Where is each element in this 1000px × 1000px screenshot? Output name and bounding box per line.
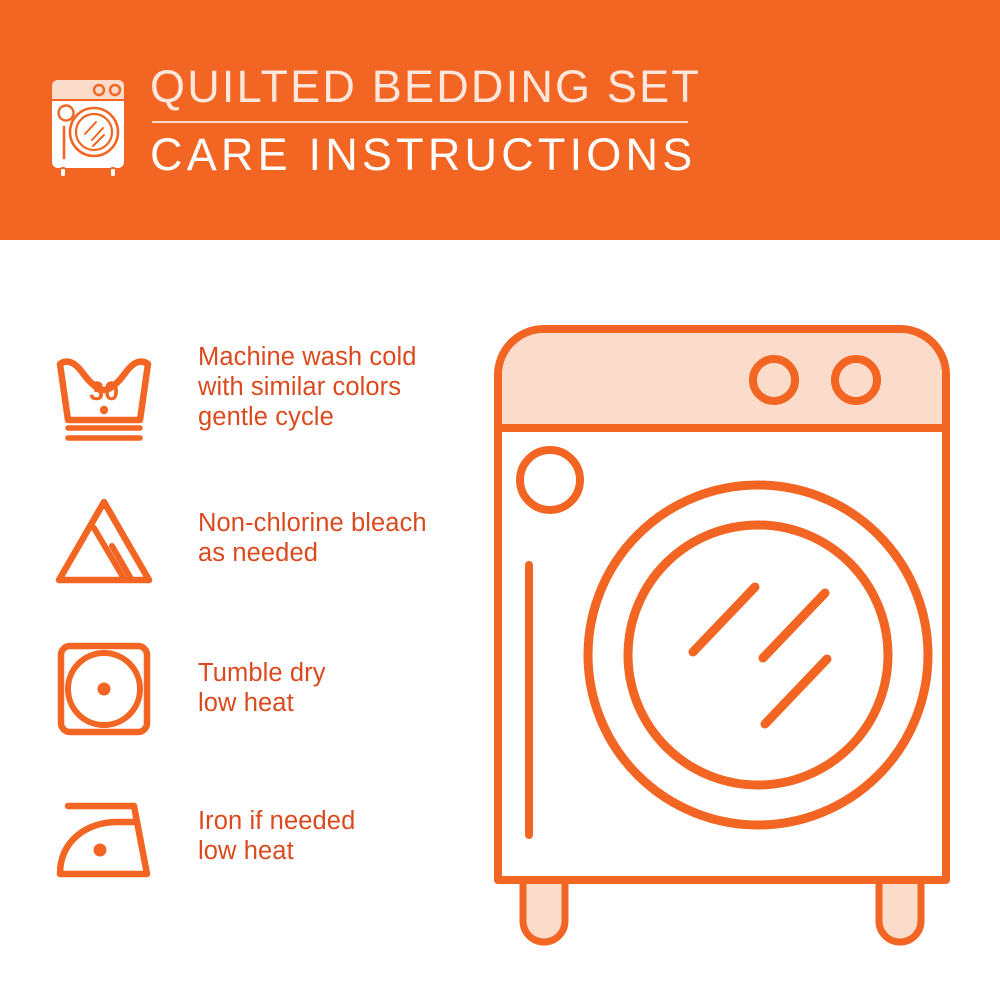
care-item: 30 Machine wash cold with similar colors… bbox=[48, 342, 478, 446]
care-item: Tumble dry low heat bbox=[48, 638, 478, 742]
front-load-washing-machine-illustration bbox=[480, 300, 1000, 960]
header-content: QUILTED BEDDING SET CARE INSTRUCTIONS bbox=[42, 62, 701, 181]
bleach-triangle-icon bbox=[48, 488, 160, 592]
care-item-label: Iron if needed low heat bbox=[198, 788, 355, 866]
page-subtitle: CARE INSTRUCTIONS bbox=[150, 129, 701, 181]
iron-icon bbox=[48, 788, 160, 892]
care-item-label: Machine wash cold with similar colors ge… bbox=[198, 342, 417, 432]
care-item-label: Tumble dry low heat bbox=[198, 638, 326, 718]
wash-temperature-label: 30 bbox=[89, 376, 119, 406]
header-banner: QUILTED BEDDING SET CARE INSTRUCTIONS bbox=[0, 0, 1000, 240]
care-instruction-list: 30 Machine wash cold with similar colors… bbox=[0, 240, 490, 1000]
care-item: Iron if needed low heat bbox=[48, 788, 478, 892]
title-block: QUILTED BEDDING SET CARE INSTRUCTIONS bbox=[150, 62, 701, 181]
washing-machine-icon bbox=[42, 72, 134, 180]
page-title: QUILTED BEDDING SET bbox=[150, 62, 701, 112]
care-item-label: Non-chlorine bleach as needed bbox=[198, 488, 427, 568]
care-item: Non-chlorine bleach as needed bbox=[48, 488, 478, 592]
tumble-dry-icon bbox=[48, 638, 160, 742]
title-divider bbox=[152, 121, 688, 123]
wash-basin-icon: 30 bbox=[48, 342, 160, 446]
